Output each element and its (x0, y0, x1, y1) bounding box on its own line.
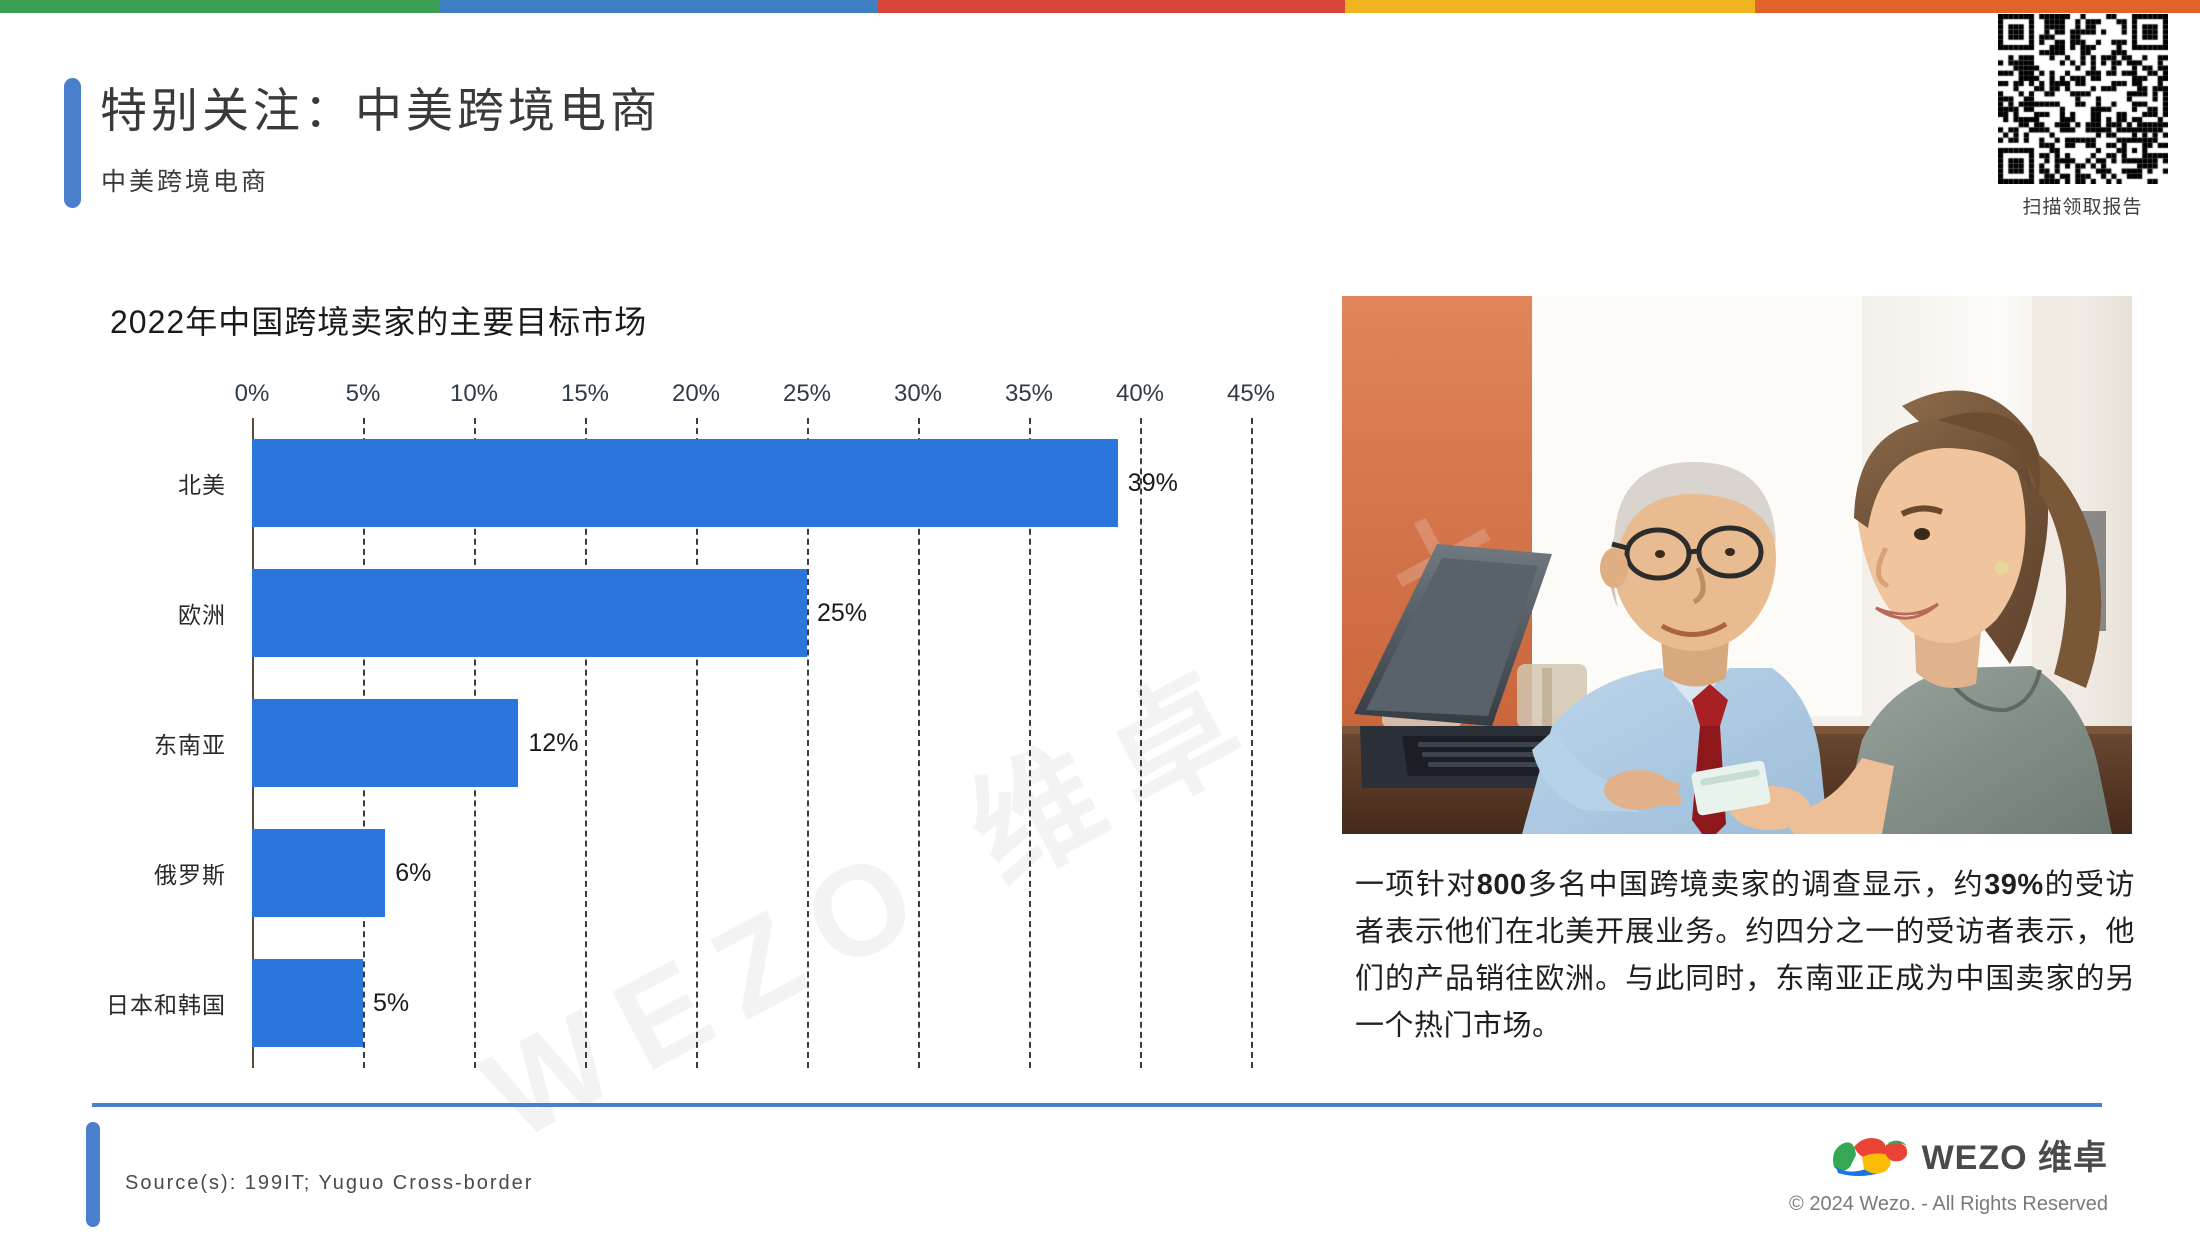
chart-gridline-45 (1251, 418, 1253, 1068)
qr-code-block[interactable]: 扫描领取报告 (1995, 14, 2170, 219)
chart-xtick-label: 20% (672, 380, 720, 408)
chart-xtick-label: 40% (1116, 380, 1164, 408)
chart-bar-row: 北美39% (252, 439, 1178, 527)
top-color-bar (0, 0, 2200, 13)
bar-chart: WEZO 维卓 0%5%10%15%20%25%30%35%40%45%北美39… (110, 370, 1310, 1070)
top-bar-segment-blue (440, 0, 878, 13)
chart-bar (252, 829, 385, 917)
chart-category-label: 北美 (178, 466, 226, 500)
page-title: 特别关注：中美跨境电商 (100, 72, 661, 141)
page-subtitle: 中美跨境电商 (101, 162, 269, 198)
chart-xtick-label: 35% (1005, 380, 1053, 408)
slide-canvas: 特别关注：中美跨境电商 中美跨境电商 扫描领取报告 2022年中国跨境卖家的主要… (0, 0, 2200, 1238)
chart-bar (252, 959, 363, 1047)
footer-divider (92, 1103, 2102, 1107)
paragraph-emphasis: 39% (1984, 869, 2044, 901)
chart-xtick-label: 0% (235, 380, 270, 408)
chart-category-label: 日本和韩国 (106, 986, 226, 1020)
chart-bar (252, 699, 518, 787)
wezo-swoosh-icon (1828, 1133, 1910, 1177)
copyright-text: © 2024 Wezo. - All Rights Reserved (1789, 1193, 2108, 1216)
chart-bar-value-label: 12% (528, 729, 578, 758)
chart-bar-row: 欧洲25% (252, 569, 867, 657)
chart-xtick-label: 30% (894, 380, 942, 408)
paragraph-text: 一项针对 (1355, 869, 1477, 901)
title-accent-bar (64, 78, 81, 208)
top-bar-segment-orange (1755, 0, 2200, 13)
chart-bar-value-label: 5% (373, 989, 409, 1018)
chart-title: 2022年中国跨境卖家的主要目标市场 (110, 297, 647, 343)
chart-bar-value-label: 25% (817, 599, 867, 628)
chart-bar-row: 俄罗斯6% (252, 829, 431, 917)
chart-xtick-label: 45% (1227, 380, 1275, 408)
top-bar-segment-yellow (1345, 0, 1755, 13)
description-paragraph: 一项针对800多名中国跨境卖家的调查显示，约39%的受访者表示他们在北美开展业务… (1355, 862, 2135, 1050)
brand-name: WEZO 维卓 (1922, 1130, 2108, 1179)
paragraph-text: 多名中国跨境卖家的调查显示，约 (1527, 869, 1984, 901)
chart-bar (252, 439, 1118, 527)
chart-bar-row: 日本和韩国5% (252, 959, 409, 1047)
chart-bar-row: 东南亚12% (252, 699, 578, 787)
chart-category-label: 东南亚 (154, 726, 226, 760)
chart-xtick-label: 5% (346, 380, 381, 408)
chart-xtick-label: 10% (450, 380, 498, 408)
chart-bar (252, 569, 807, 657)
footer-accent-bar (86, 1122, 100, 1227)
top-bar-segment-green (0, 0, 440, 13)
chart-bar-value-label: 6% (395, 859, 431, 888)
qr-code-caption: 扫描领取报告 (1995, 192, 2170, 219)
chart-xtick-label: 15% (561, 380, 609, 408)
chart-plot-area: 0%5%10%15%20%25%30%35%40%45%北美39%欧洲25%东南… (252, 418, 1251, 1068)
qr-code-image[interactable] (1998, 14, 2168, 184)
brand-logo-block: WEZO 维卓 © 2024 Wezo. - All Rights Reserv… (1789, 1130, 2108, 1216)
chart-category-label: 欧洲 (178, 596, 226, 630)
feature-photo (1342, 296, 2132, 834)
top-bar-segment-red (878, 0, 1345, 13)
chart-category-label: 俄罗斯 (154, 856, 226, 890)
photo-illustration (1342, 296, 2132, 834)
chart-xtick-label: 25% (783, 380, 831, 408)
source-citation: Source(s): 199IT; Yuguo Cross-border (125, 1172, 533, 1195)
paragraph-emphasis: 800 (1477, 869, 1527, 901)
chart-bar-value-label: 39% (1128, 469, 1178, 498)
